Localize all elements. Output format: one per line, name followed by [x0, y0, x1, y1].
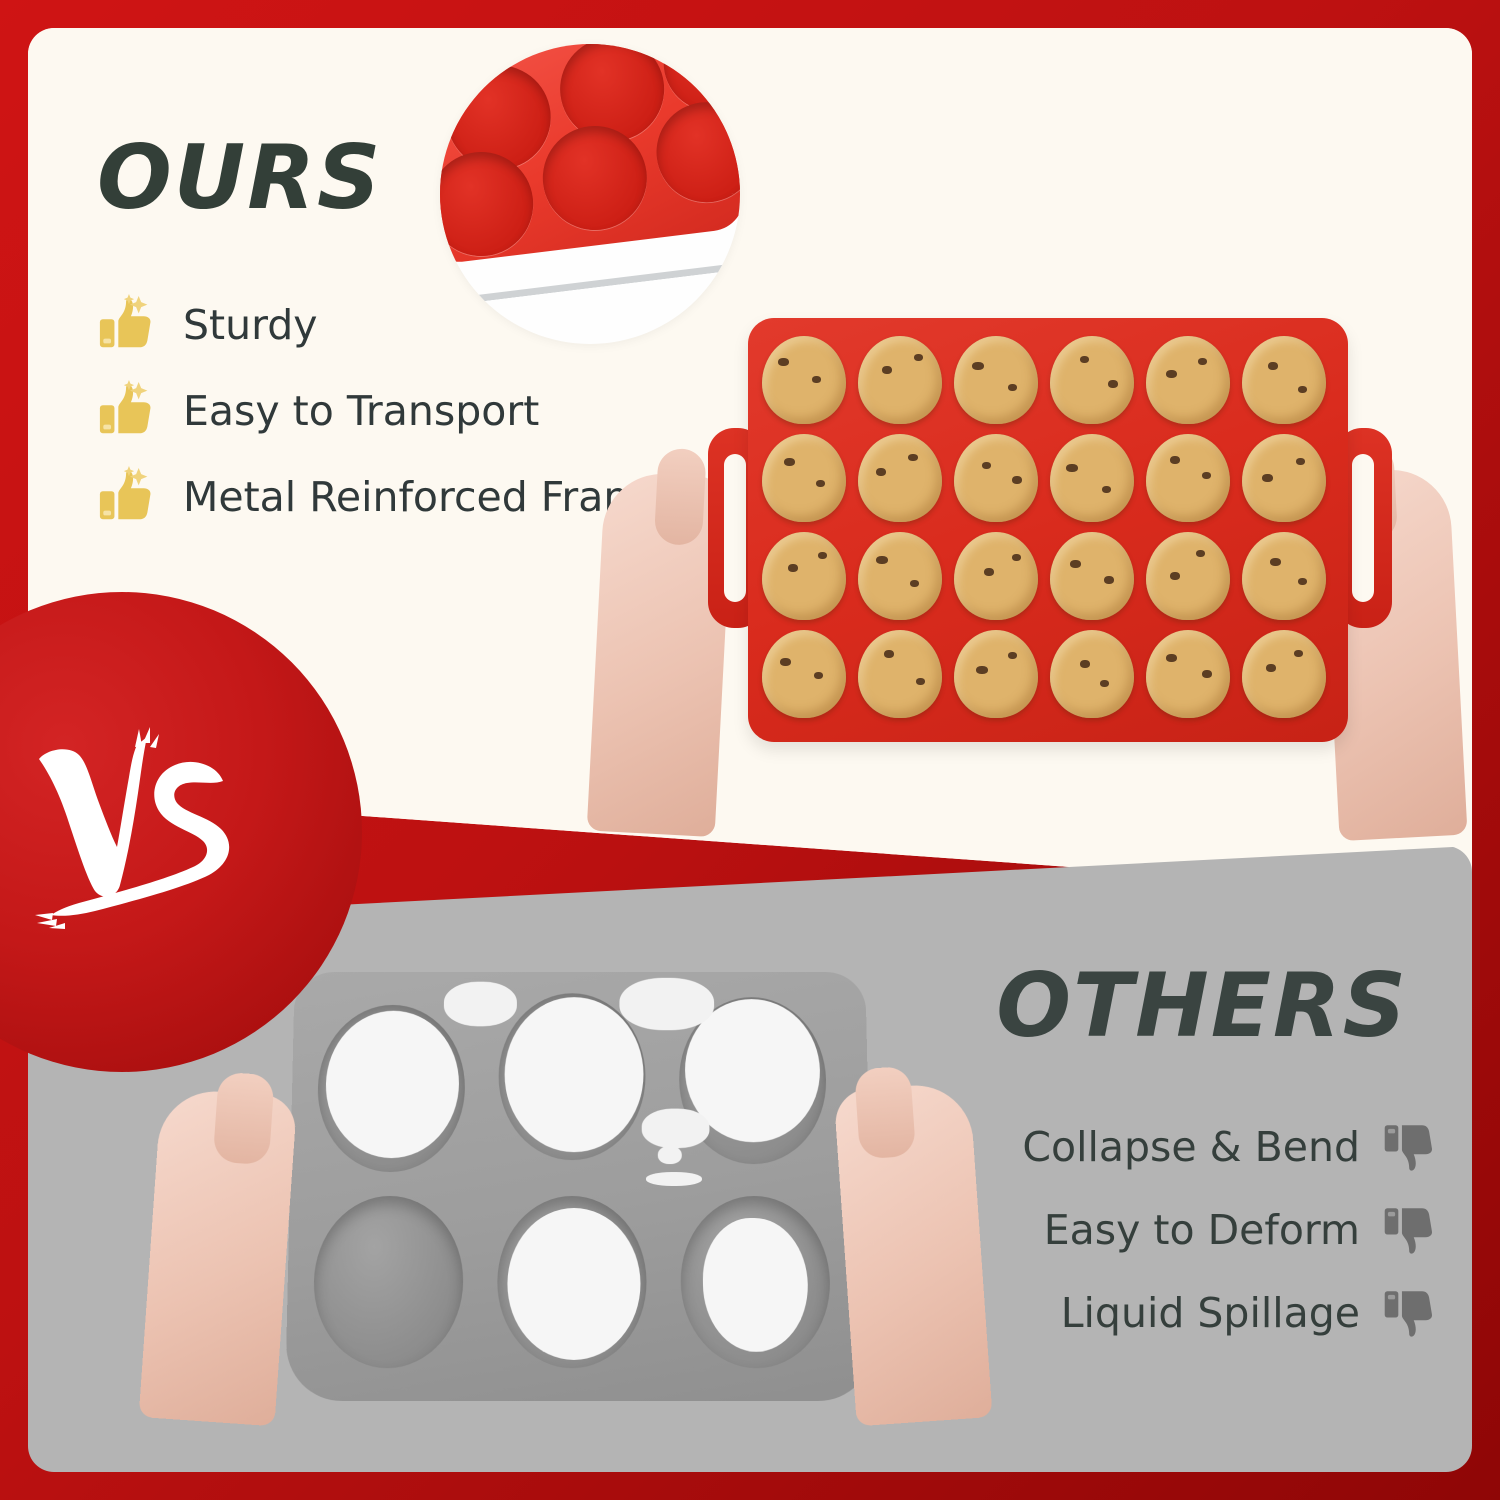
muffin [954, 434, 1038, 522]
ours-feature-label: Metal Reinforced Frame [183, 473, 669, 521]
ours-feature-label: Easy to Transport [183, 387, 539, 435]
thumbs-up-sparkle-icon [97, 294, 159, 356]
muffin [1242, 336, 1326, 424]
muffin [858, 630, 942, 718]
ours-feature-item: Easy to Transport [97, 368, 717, 454]
gray-mold-body [285, 972, 875, 1401]
hand-left-bottom [139, 1088, 298, 1427]
batter-drip [658, 1146, 682, 1164]
comparison-infographic: OURS Sturdy [0, 0, 1500, 1500]
thumbs-down-icon [1382, 1118, 1440, 1176]
others-drawback-label: Easy to Deform [1044, 1206, 1360, 1254]
thumbs-up-sparkle-icon [97, 466, 159, 528]
muffin [1242, 434, 1326, 522]
others-drawback-item: Liquid Spillage [1022, 1271, 1440, 1354]
muffin [1242, 630, 1326, 718]
red-muffin-pan [700, 300, 1400, 790]
spilled-batter [504, 997, 644, 1152]
spilled-batter [507, 1208, 641, 1360]
muffin [858, 336, 942, 424]
gray-silicone-mold [250, 962, 910, 1422]
muffin [1050, 630, 1134, 718]
muffin [1050, 336, 1134, 424]
others-drawback-label: Collapse & Bend [1022, 1123, 1360, 1171]
muffin [1146, 336, 1230, 424]
others-drawback-item: Easy to Deform [1022, 1188, 1440, 1271]
vs-brush-icon [17, 707, 267, 957]
others-drawback-item: Collapse & Bend [1022, 1105, 1440, 1188]
muffin [1146, 532, 1230, 620]
mold-cup [312, 1196, 464, 1368]
muffin [1146, 434, 1230, 522]
thumbs-down-icon [1382, 1284, 1440, 1342]
others-drawback-label: Liquid Spillage [1061, 1289, 1360, 1337]
batter-spill [642, 1109, 710, 1149]
muffin [1050, 532, 1134, 620]
thumb [654, 448, 707, 546]
batter-spill [619, 978, 714, 1030]
muffin [954, 532, 1038, 620]
muffin [954, 336, 1038, 424]
muffin [762, 532, 846, 620]
inset-cup [651, 96, 740, 207]
muffin [858, 532, 942, 620]
muffin [1146, 630, 1230, 718]
thumbs-up-sparkle-icon [97, 380, 159, 442]
hand-right-bottom [833, 1082, 992, 1427]
thumbs-down-icon [1382, 1201, 1440, 1259]
muffin [762, 630, 846, 718]
muffin [1242, 532, 1326, 620]
others-heading: OTHERS [996, 962, 1408, 1050]
muffin [1050, 434, 1134, 522]
muffin [762, 336, 846, 424]
muffin [858, 434, 942, 522]
muffin [954, 630, 1038, 718]
ours-feature-label: Sturdy [183, 301, 318, 349]
thumb [854, 1066, 916, 1160]
red-pan-body [748, 318, 1348, 742]
muffin [762, 434, 846, 522]
others-drawback-list: Collapse & Bend Easy to Deform Liqui [1022, 1105, 1440, 1354]
metal-frame-closeup-inset [440, 44, 740, 344]
ours-heading: OURS [97, 134, 382, 222]
thumb [213, 1072, 275, 1166]
batter-drip [646, 1172, 702, 1186]
batter-spill [444, 982, 517, 1027]
